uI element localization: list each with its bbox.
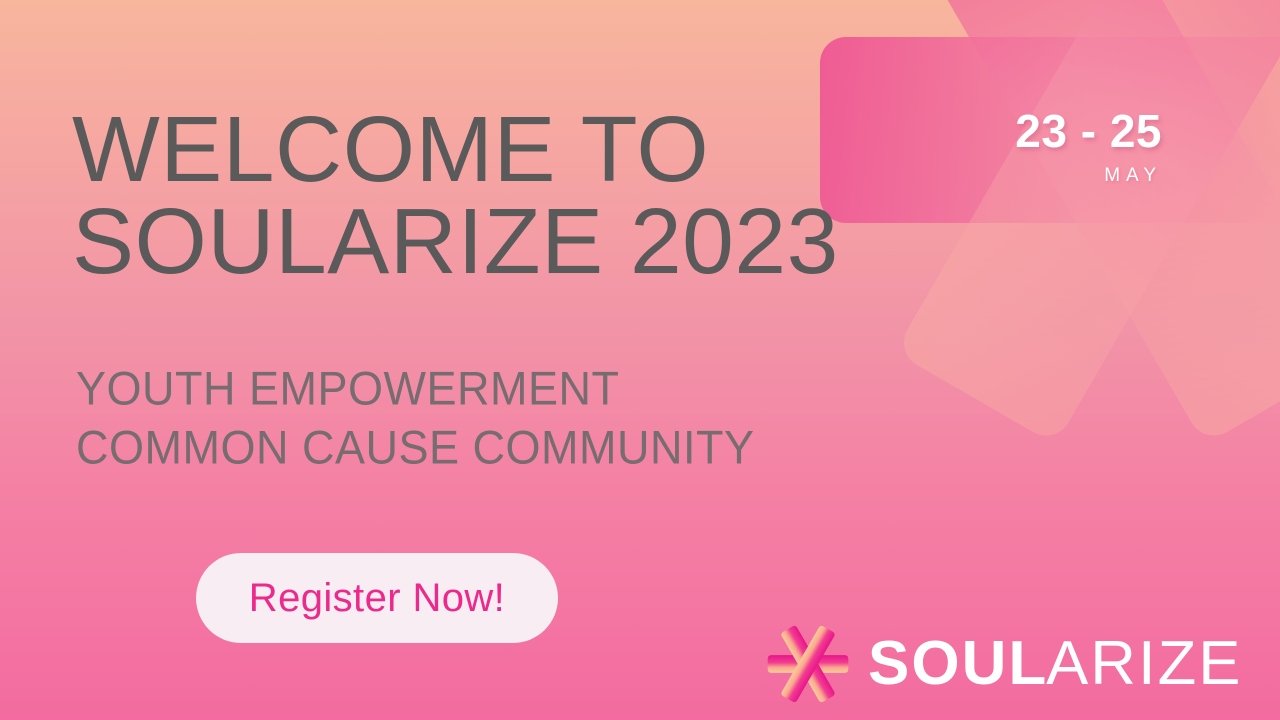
- asterisk-arm: [894, 0, 1280, 445]
- subtitle-line-1: YOUTH EMPOWERMENT: [76, 357, 755, 420]
- background-asterisk-icon: [820, 0, 1280, 440]
- subtitle-line-2: COMMON CAUSE COMMUNITY: [76, 416, 755, 479]
- event-banner: 23 - 25 MAY WELCOME TO SOULARIZE 2023 YO…: [0, 0, 1280, 720]
- date-month: MAY: [1015, 166, 1162, 185]
- soularize-asterisk-icon: [766, 622, 850, 706]
- page-subtitle: YOUTH EMPOWERMENT COMMON CAUSE COMMUNITY: [76, 357, 755, 476]
- register-now-button[interactable]: Register Now!: [196, 553, 558, 643]
- logo-light-part: ARIZE: [1046, 633, 1242, 695]
- soularize-logo[interactable]: SOUL ARIZE: [766, 622, 1241, 706]
- date-badge: 23 - 25 MAY: [1015, 108, 1162, 185]
- date-range: 23 - 25: [1015, 108, 1162, 154]
- headline-line-1: WELCOME TO: [72, 103, 839, 195]
- page-title: WELCOME TO SOULARIZE 2023: [72, 103, 839, 287]
- headline-line-2: SOULARIZE 2023: [72, 195, 839, 287]
- logo-wordmark: SOUL ARIZE: [868, 633, 1241, 695]
- logo-bold-part: SOUL: [868, 633, 1048, 695]
- register-now-label: Register Now!: [249, 578, 505, 618]
- asterisk-arm: [894, 0, 1280, 445]
